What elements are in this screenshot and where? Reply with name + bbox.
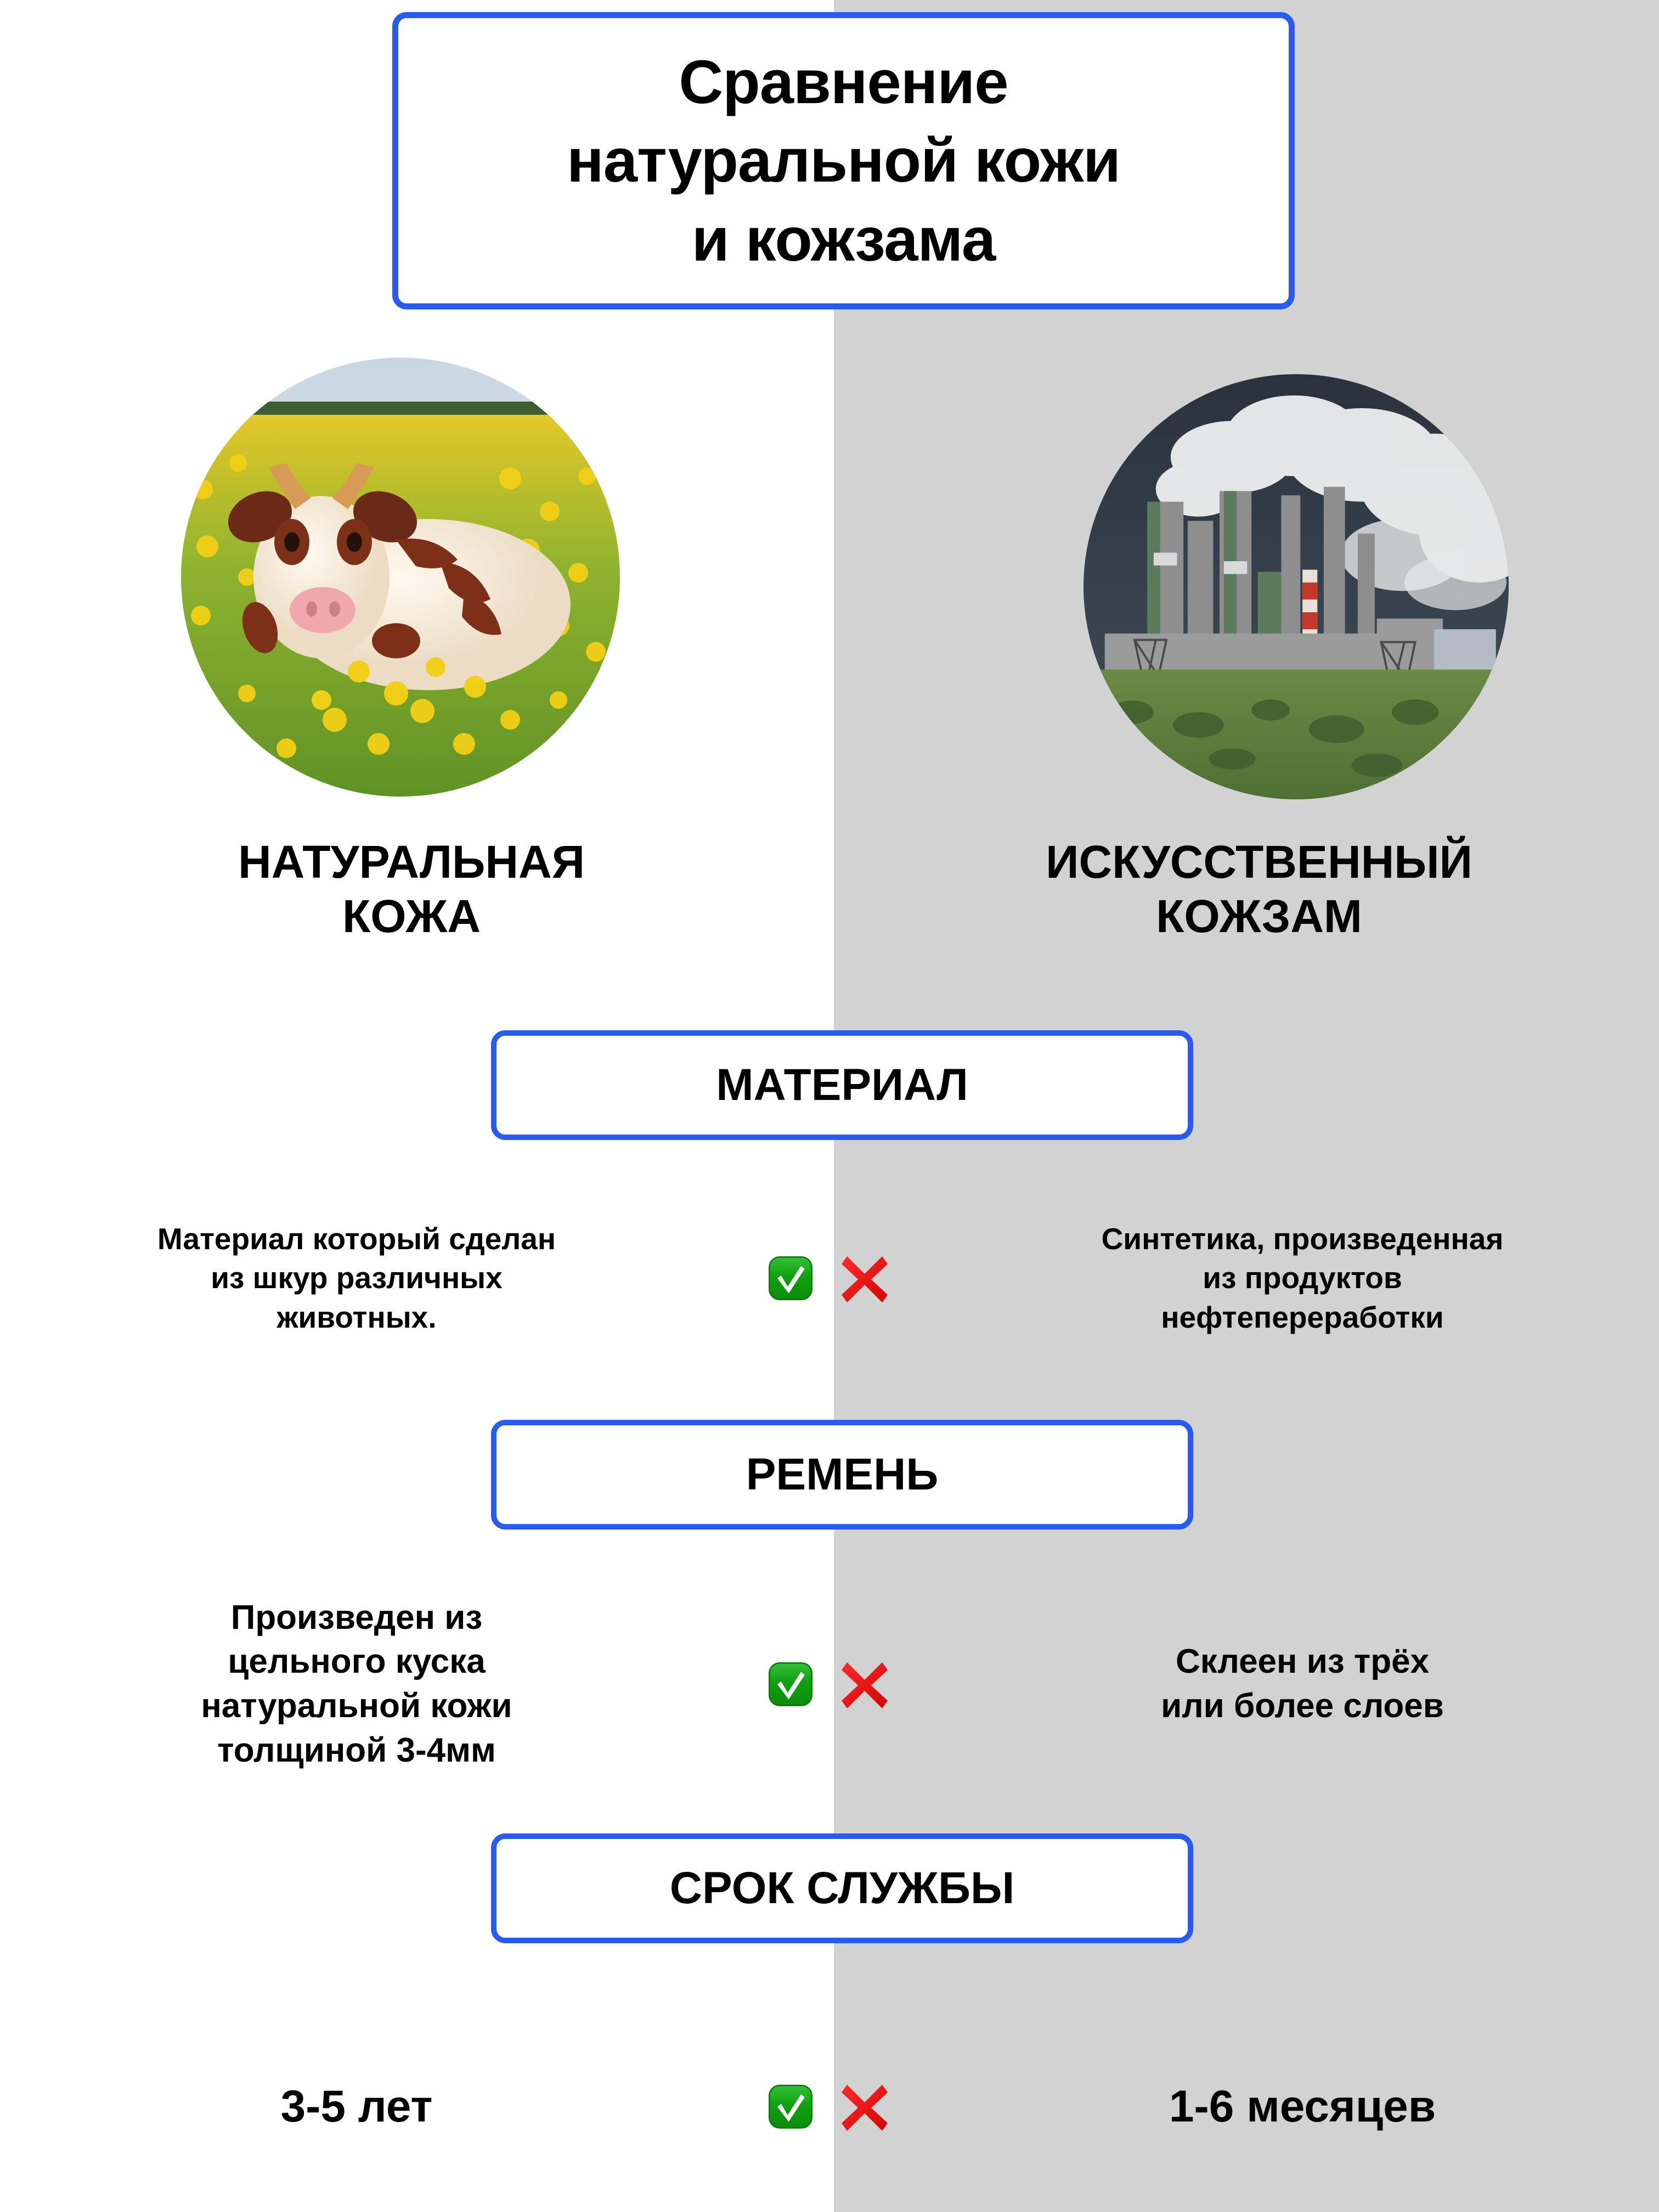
- row-service-life-right-text: 1-6 месяцев: [929, 2052, 1659, 2162]
- factory-photo-graphic: [1084, 374, 1509, 799]
- section-banner-label: СРОК СЛУЖБЫ: [670, 1863, 1015, 1914]
- comparison-row-material: Материал который сделан из шкур различны…: [0, 1196, 1659, 1361]
- check-icon: [767, 1661, 814, 1708]
- cross-icon: [837, 1657, 892, 1712]
- row-material-left-text: Материал который сделан из шкур различны…: [0, 1196, 730, 1361]
- section-banner-belt: РЕМЕНЬ: [491, 1420, 1193, 1530]
- row-belt-right-text: Склеен из трёх или более слоев: [929, 1580, 1659, 1788]
- section-banner-material: МАТЕРИАЛ: [491, 1030, 1193, 1140]
- cross-icon: [837, 2079, 892, 2134]
- infographic-page: Сравнение натуральной кожи и кожзама: [0, 0, 1659, 2212]
- section-banner-label: МАТЕРИАЛ: [716, 1059, 968, 1111]
- page-title: Сравнение натуральной кожи и кожзама: [567, 43, 1120, 279]
- row-belt-left-text: Произведен из цельного куска натуральной…: [0, 1580, 730, 1788]
- column-caption-artificial-leather: ИСКУССТВЕННЫЙ КОЖЗАМ: [900, 835, 1618, 944]
- check-icon: [767, 2083, 814, 2130]
- cow-photo-graphic: [181, 358, 620, 797]
- factory-photo: [1084, 374, 1509, 799]
- section-banner-service-life: СРОК СЛУЖБЫ: [491, 1833, 1193, 1943]
- check-icon: [767, 1255, 814, 1302]
- row-service-life-left-text: 3-5 лет: [0, 2052, 730, 2162]
- column-caption-natural-leather: НАТУРАЛЬНАЯ КОЖА: [55, 835, 768, 944]
- section-banner-label: РЕМЕНЬ: [746, 1449, 939, 1500]
- cross-icon: [837, 1251, 892, 1306]
- row-belt-marks: [730, 1580, 929, 1788]
- row-service-life-marks: [730, 2052, 929, 2162]
- comparison-row-service-life: 3-5 лет: [0, 2052, 1659, 2162]
- row-material-right-text: Синтетика, произведенная из продуктов не…: [929, 1196, 1659, 1361]
- comparison-row-belt: Произведен из цельного куска натуральной…: [0, 1580, 1659, 1788]
- row-material-marks: [730, 1196, 929, 1361]
- title-card: Сравнение натуральной кожи и кожзама: [392, 12, 1295, 309]
- cow-photo: [181, 358, 620, 797]
